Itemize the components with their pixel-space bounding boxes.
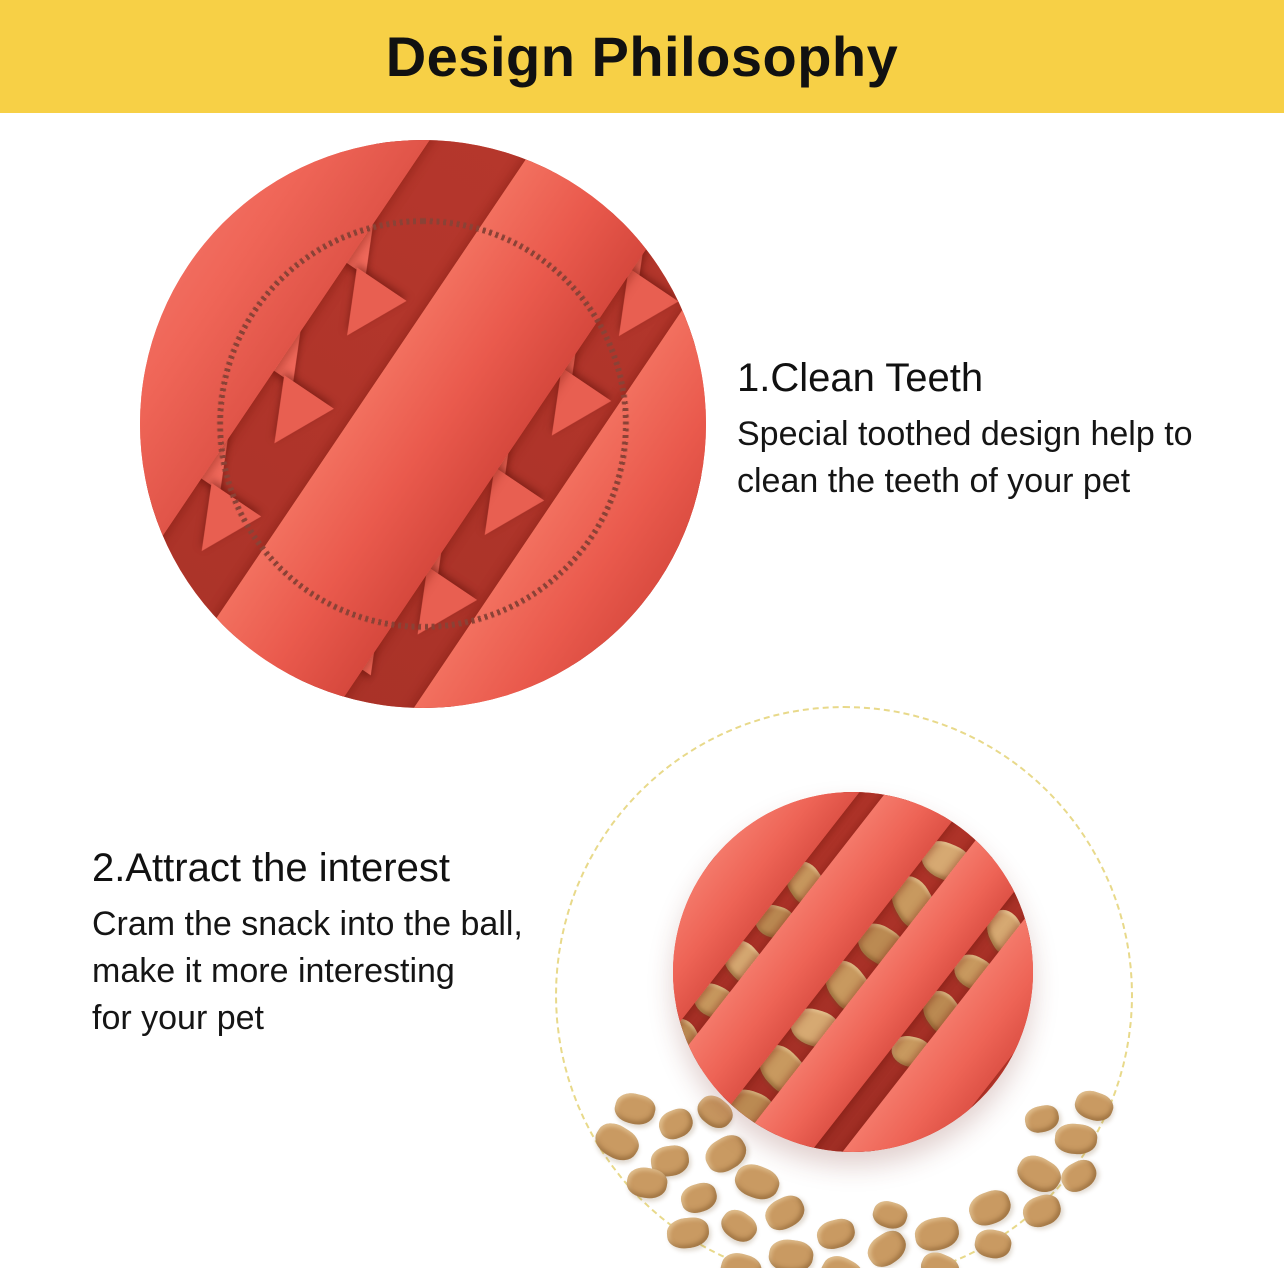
description-line: Cram the snack into the ball, (92, 901, 592, 948)
clean-teeth-ball-image (140, 140, 706, 708)
feature-heading: 2.Attract the interest (92, 845, 592, 891)
feature-block-attract-the-interest: 2.Attract the interest Cram the snack in… (92, 845, 592, 1042)
description-line: make it more interesting (92, 948, 592, 995)
feature-heading: 1.Clean Teeth (737, 355, 1257, 401)
page-title: Design Philosophy (0, 0, 1284, 113)
design-philosophy-infographic: Design Philosophy (0, 0, 1284, 1268)
description-line: clean the teeth of your pet (737, 458, 1257, 505)
description-line: for your pet (92, 995, 592, 1042)
description-line: Special toothed design help to (737, 411, 1257, 458)
feature-block-clean-teeth: 1.Clean Teeth Special toothed design hel… (737, 355, 1257, 505)
feature-description: Cram the snack into the ball, make it mo… (92, 901, 592, 1042)
ball-graphic (673, 792, 1033, 1152)
ball-graphic (140, 140, 706, 708)
attract-interest-ball-image (555, 706, 1133, 1268)
feature-description: Special toothed design help to clean the… (737, 411, 1257, 505)
